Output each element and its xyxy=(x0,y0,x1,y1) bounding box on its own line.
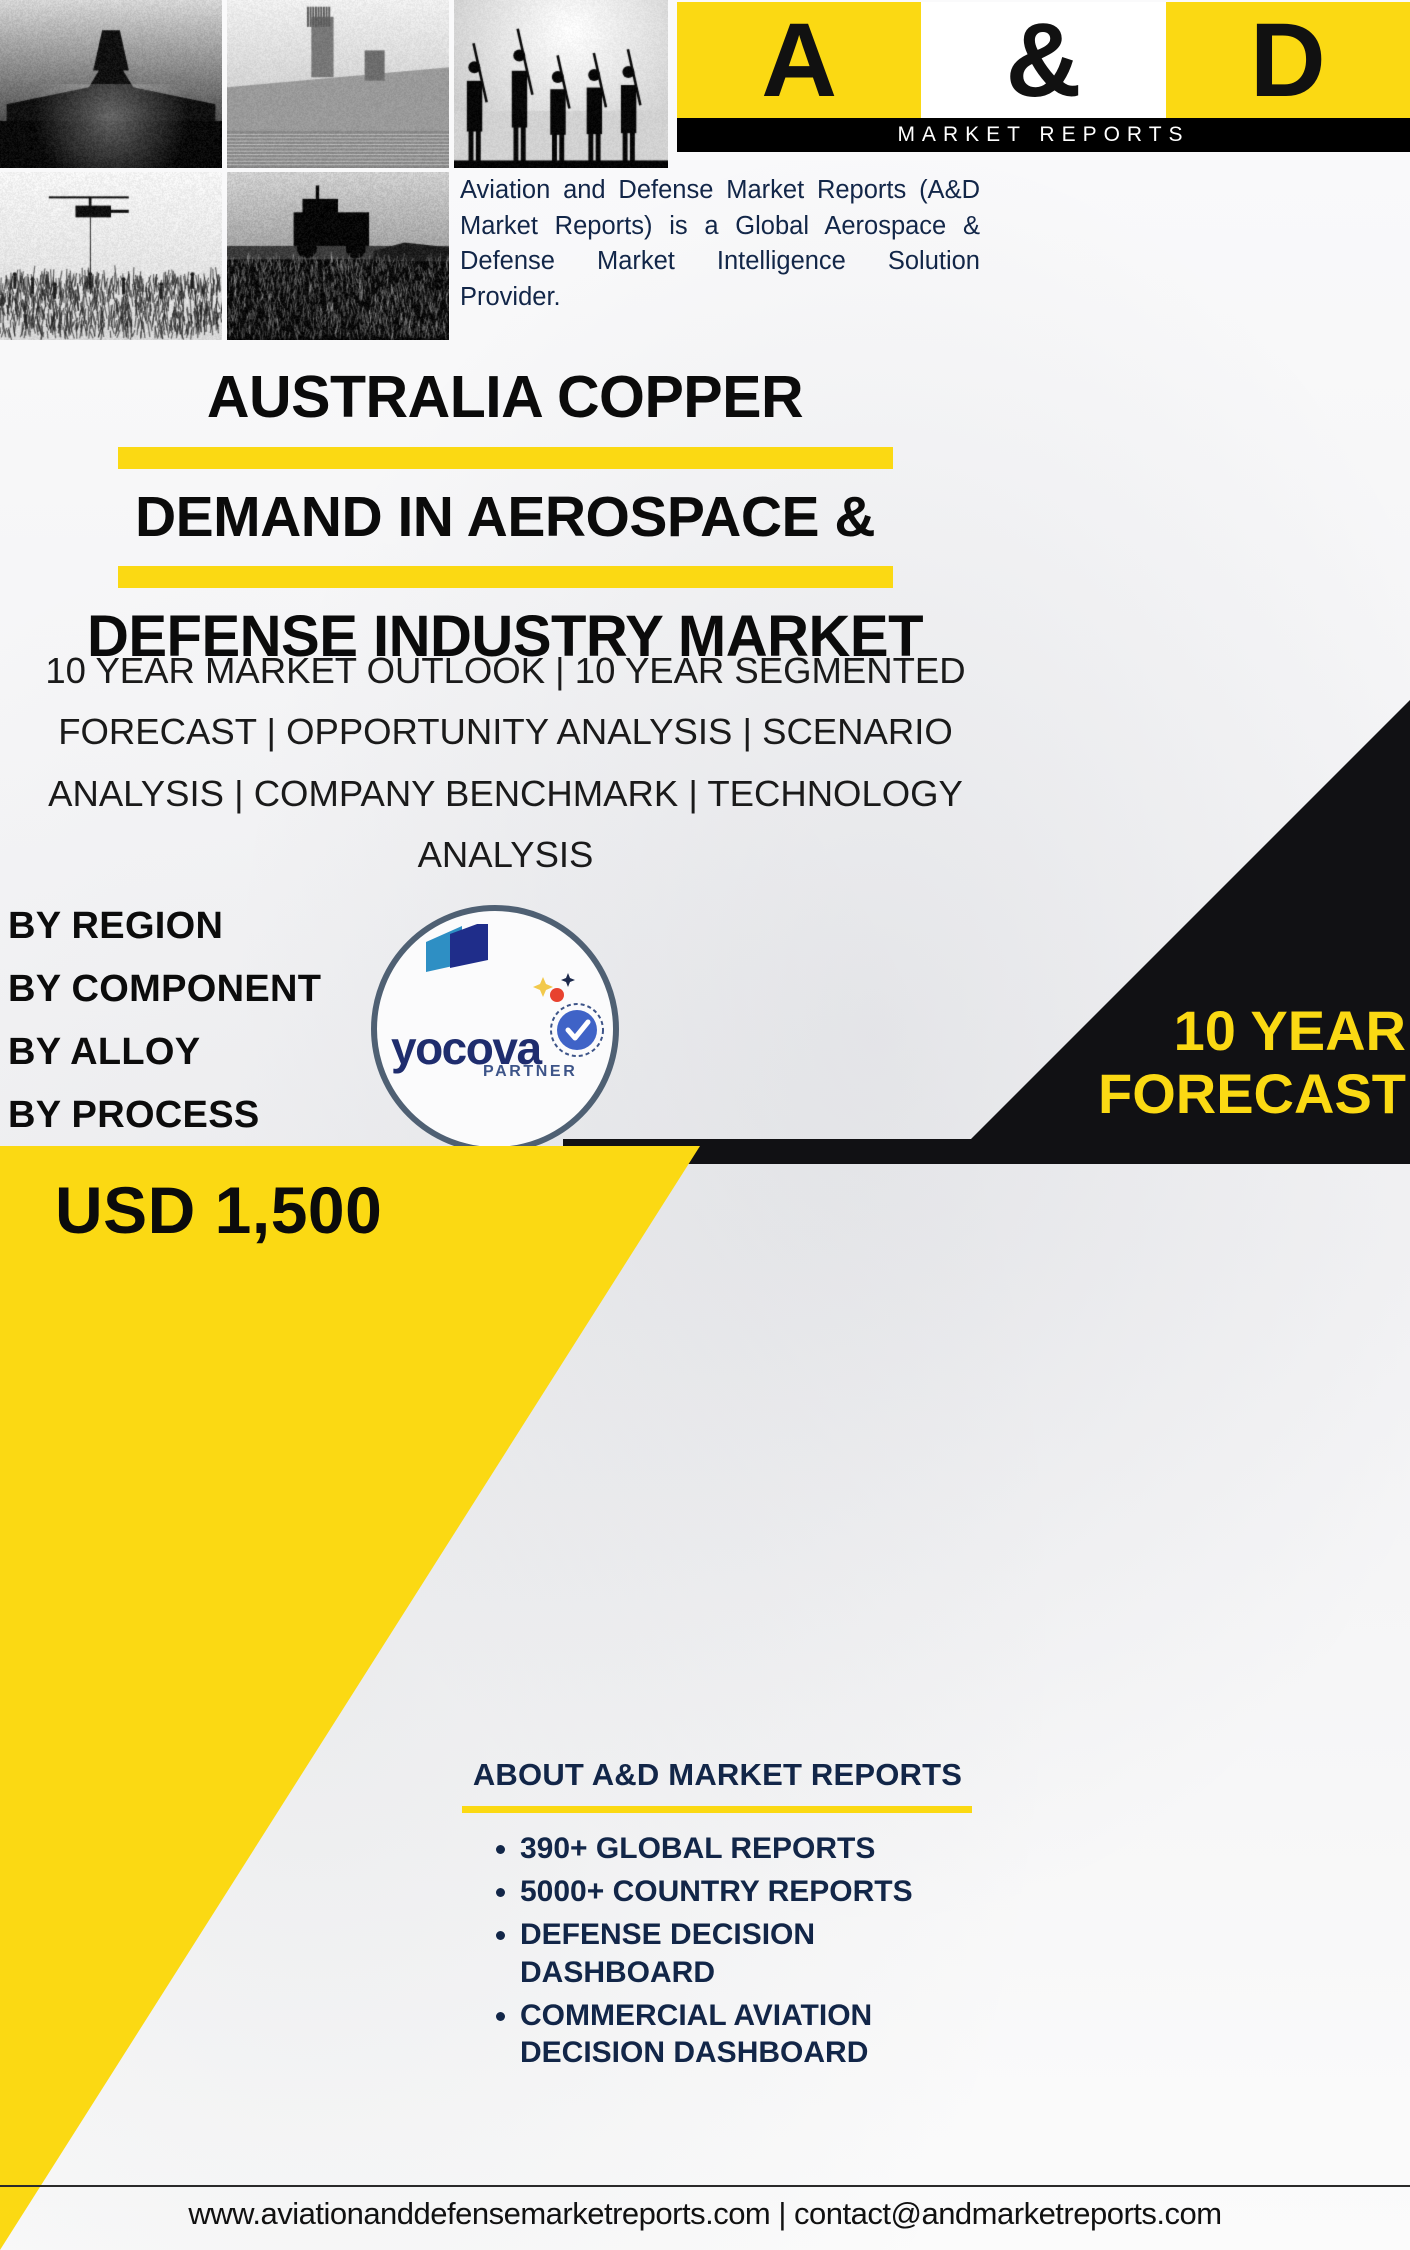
segment-item-alloy: BY ALLOY xyxy=(8,1021,321,1084)
footer-divider xyxy=(0,2185,1410,2187)
about-bullet-list: 390+ GLOBAL REPORTS 5000+ COUNTRY REPORT… xyxy=(492,1830,992,2077)
segment-list: BY REGION BY COMPONENT BY ALLOY BY PROCE… xyxy=(8,895,321,1147)
footer-contact: www.aviationanddefensemarketreports.com … xyxy=(0,2196,1410,2232)
photo-helicopter xyxy=(0,172,222,340)
segment-item-component: BY COMPONENT xyxy=(8,958,321,1021)
forecast-line-2: FORECAST xyxy=(986,1063,1406,1126)
photo-soldiers xyxy=(454,0,668,168)
logo-tagline-bar: MARKET REPORTS xyxy=(677,118,1410,152)
title-line-2: DEMAND IN AEROSPACE & xyxy=(0,489,1010,546)
photo-fighter-jet xyxy=(0,0,222,168)
list-item: COMMERCIAL AVIATION DECISION DASHBOARD xyxy=(520,1997,992,2071)
page-title: AUSTRALIA COPPER DEMAND IN AEROSPACE & D… xyxy=(0,360,1010,666)
list-item: DEFENSE DECISION DASHBOARD xyxy=(520,1916,992,1990)
title-underline-2 xyxy=(118,566,893,588)
logo-tagline: MARKET REPORTS xyxy=(897,123,1189,147)
photo-armored-vehicle xyxy=(227,172,449,340)
poster-page: A & D MARKET REPORTS Aviation and Defens… xyxy=(0,0,1410,2250)
brand-logo: A & D MARKET REPORTS xyxy=(677,2,1410,152)
intro-paragraph: Aviation and Defense Market Reports (A&D… xyxy=(460,173,980,316)
about-heading-underline xyxy=(462,1806,972,1813)
about-heading: ABOUT A&D MARKET REPORTS xyxy=(455,1757,980,1793)
photo-aircraft-carrier xyxy=(227,0,449,168)
price-label: USD 1,500 xyxy=(55,1172,382,1248)
logo-letter-a: A xyxy=(677,2,921,118)
forecast-line-1: 10 YEAR xyxy=(986,1000,1406,1063)
subtitle-text: 10 YEAR MARKET OUTLOOK | 10 YEAR SEGMENT… xyxy=(18,640,993,885)
yocova-partner-badge: yocova PARTNER xyxy=(371,905,619,1153)
yocova-partner-label: PARTNER xyxy=(483,1063,577,1081)
logo-letter-row: A & D xyxy=(677,2,1410,118)
logo-letter-d: D xyxy=(1166,2,1410,118)
yocova-flag-icon xyxy=(422,924,512,1002)
list-item: 390+ GLOBAL REPORTS xyxy=(520,1830,992,1867)
yellow-diagonal-wedge xyxy=(0,1146,700,2250)
list-item: 5000+ COUNTRY REPORTS xyxy=(520,1873,992,1910)
segment-item-process: BY PROCESS xyxy=(8,1084,321,1147)
forecast-callout: 10 YEAR FORECAST xyxy=(986,1000,1406,1125)
logo-letter-ampersand: & xyxy=(921,2,1165,118)
segment-item-region: BY REGION xyxy=(8,895,321,958)
title-line-1: AUSTRALIA COPPER xyxy=(0,368,1010,427)
title-underline-1 xyxy=(118,447,893,469)
